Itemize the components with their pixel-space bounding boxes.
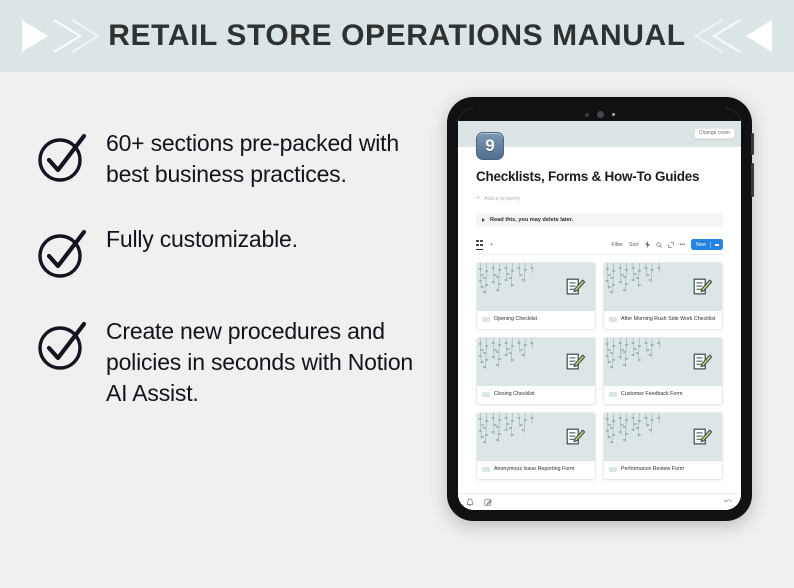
card-title: Opening Checklist (494, 316, 537, 323)
filter-button[interactable]: Filter (611, 242, 623, 248)
toggle-block[interactable]: Read this, you may delete later. (476, 213, 723, 227)
card-cover (477, 413, 595, 461)
database-toolbar: + Filter Sort (476, 239, 723, 255)
banner-right-arrows (690, 16, 776, 56)
chevron-down-icon[interactable] (715, 244, 719, 246)
double-chevron-left-icon (690, 16, 776, 56)
lightning-icon[interactable] (645, 241, 650, 248)
card-label: Closing Checklist (477, 386, 595, 404)
card-cover (477, 338, 595, 386)
ellipsis-icon[interactable]: ••• (680, 242, 685, 248)
card-title: Closing Checklist (494, 391, 535, 398)
gallery-card[interactable]: After Morning Rush Side Work Checklist (603, 262, 723, 330)
notion-app: Change cover 9 Checklists, Forms & How-T… (458, 121, 741, 510)
page-title: RETAIL STORE OPERATIONS MANUAL (108, 19, 685, 53)
check-circle-icon (34, 318, 90, 374)
gallery-card[interactable]: Anonymous Issue Reporting Form (476, 412, 596, 480)
sort-button[interactable]: Sort (629, 242, 639, 248)
memo-pencil-icon (691, 276, 713, 298)
list-item-label: Create new procedures and policies in se… (106, 316, 424, 409)
card-cover (604, 263, 722, 311)
memo-pencil-icon (691, 351, 713, 373)
gallery-card[interactable]: Customer Feedback Form (603, 337, 723, 405)
banner-left-arrows (18, 16, 104, 56)
card-label: Customer Feedback Form (604, 386, 722, 404)
power-button (751, 163, 754, 197)
gallery-grid: Opening Checklist (476, 262, 723, 480)
camera-lens-icon (597, 111, 604, 118)
camera-bar (458, 108, 741, 121)
memo-pencil-icon (564, 351, 586, 373)
card-title: After Morning Rush Side Work Checklist (621, 316, 715, 323)
expand-icon[interactable] (668, 242, 674, 248)
gallery-view-icon[interactable] (476, 240, 483, 250)
search-icon[interactable] (656, 242, 662, 248)
card-title: Customer Feedback Form (621, 391, 683, 398)
card-icon (609, 392, 617, 397)
list-item: 60+ sections pre-packed with best busine… (34, 128, 424, 190)
gallery-card[interactable]: Closing Checklist (476, 337, 596, 405)
add-property-label: Add a property (484, 196, 520, 202)
card-label: Performance Review Form (604, 461, 722, 479)
new-button[interactable]: New (691, 239, 723, 250)
card-cover (604, 413, 722, 461)
camera-indicator-icon (612, 113, 615, 116)
list-item-label: 60+ sections pre-packed with best busine… (106, 128, 424, 190)
card-label: After Morning Rush Side Work Checklist (604, 311, 722, 329)
list-item: Create new procedures and policies in se… (34, 316, 424, 409)
feature-list: 60+ sections pre-packed with best busine… (34, 128, 424, 443)
bell-icon[interactable] (466, 498, 474, 507)
card-title: Performance Review Form (621, 466, 684, 473)
page-emoji-icon[interactable]: 9 (476, 132, 504, 160)
camera-sensor-icon (585, 113, 589, 117)
card-icon (482, 467, 490, 472)
volume-button (751, 133, 754, 155)
list-item-label: Fully customizable. (106, 224, 298, 255)
plus-icon: + (476, 195, 480, 202)
card-cover (477, 263, 595, 311)
notion-page-title[interactable]: Checklists, Forms & How-To Guides (476, 169, 723, 184)
tablet-mockup: Change cover 9 Checklists, Forms & How-T… (447, 97, 752, 521)
add-property-button[interactable]: + Add a property (476, 195, 723, 202)
undo-arrow-icon[interactable] (724, 498, 733, 506)
list-item: Fully customizable. (34, 224, 424, 282)
memo-pencil-icon (691, 426, 713, 448)
app-bottom-bar (458, 493, 741, 510)
card-icon (609, 317, 617, 322)
tablet-screen: Change cover 9 Checklists, Forms & How-T… (458, 108, 741, 510)
gallery-card[interactable]: Opening Checklist (476, 262, 596, 330)
card-icon (609, 467, 617, 472)
compose-icon[interactable] (484, 498, 492, 507)
toggle-block-label: Read this, you may delete later. (490, 217, 573, 223)
header-banner: RETAIL STORE OPERATIONS MANUAL (0, 0, 794, 72)
card-cover (604, 338, 722, 386)
change-cover-button[interactable]: Change cover (694, 128, 735, 139)
card-title: Anonymous Issue Reporting Form (494, 466, 574, 473)
divider (710, 242, 711, 248)
check-circle-icon (34, 226, 90, 282)
new-button-label: New (696, 242, 706, 248)
card-label: Anonymous Issue Reporting Form (477, 461, 595, 479)
double-chevron-right-icon (18, 16, 104, 56)
chevron-right-icon[interactable] (482, 218, 485, 222)
check-circle-icon (34, 130, 90, 186)
memo-pencil-icon (564, 276, 586, 298)
card-icon (482, 392, 490, 397)
memo-pencil-icon (564, 426, 586, 448)
card-label: Opening Checklist (477, 311, 595, 329)
plus-icon[interactable]: + (490, 242, 493, 248)
gallery-card[interactable]: Performance Review Form (603, 412, 723, 480)
card-icon (482, 317, 490, 322)
